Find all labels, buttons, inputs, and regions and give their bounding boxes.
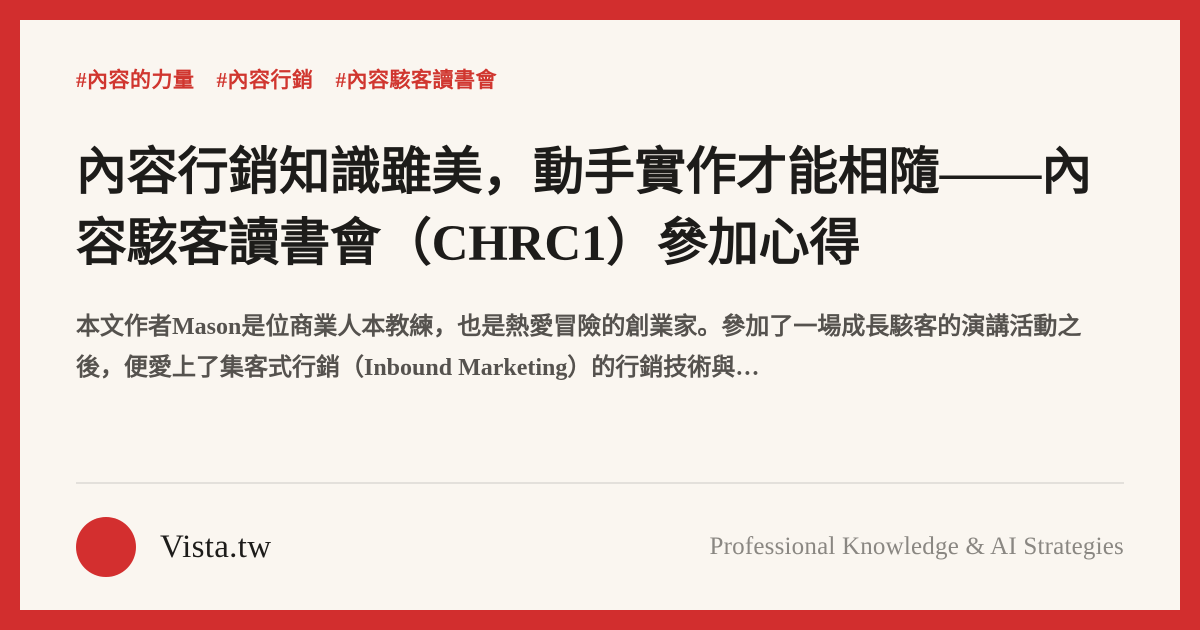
brand-name: Vista.tw xyxy=(160,529,271,566)
social-card-frame: #內容的力量 #內容行銷 #內容駭客讀書會 內容行銷知識雖美，動手實作才能相隨—… xyxy=(0,0,1200,630)
tag-item-2[interactable]: #內容駭客讀書會 xyxy=(336,64,498,94)
brand-tagline: Professional Knowledge & AI Strategies xyxy=(710,533,1124,561)
brand-block[interactable]: Vista.tw xyxy=(76,517,271,577)
page-title: 內容行銷知識雖美，動手實作才能相隨——內容駭客讀書會（CHRC1）參加心得 xyxy=(76,138,1124,281)
card-footer: Vista.tw Professional Knowledge & AI Str… xyxy=(76,484,1124,610)
tag-list: #內容的力量 #內容行銷 #內容駭客讀書會 xyxy=(76,64,1124,94)
social-card: #內容的力量 #內容行銷 #內容駭客讀書會 內容行銷知識雖美，動手實作才能相隨—… xyxy=(20,20,1180,610)
circle-avatar-icon xyxy=(76,517,136,577)
tag-item-1[interactable]: #內容行銷 xyxy=(217,64,314,94)
post-description: 本文作者Mason是位商業人本教練，也是熱愛冒險的創業家。參加了一場成長駭客的演… xyxy=(76,307,1124,390)
tag-item-0[interactable]: #內容的力量 xyxy=(76,64,195,94)
